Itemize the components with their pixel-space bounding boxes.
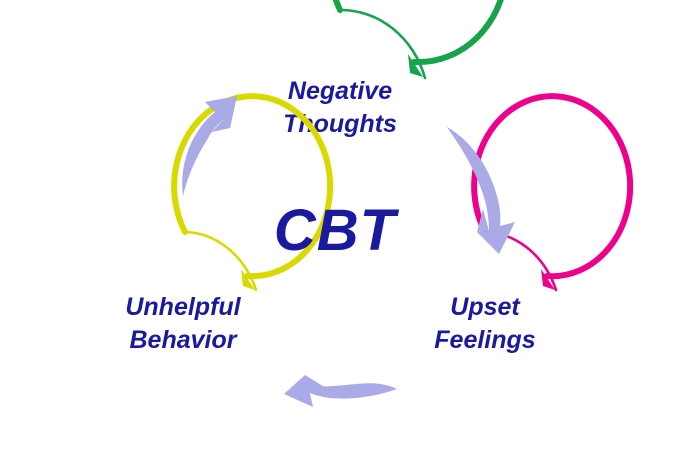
cbt-cycle-diagram: Negative Thoughts Upset Feelings Unhelpf… [0,0,680,450]
upset-feelings-label-line2: Feelings [434,326,536,354]
node-negative-thoughts[interactable]: Negative Thoughts [283,0,506,138]
negative-thoughts-ring [330,0,506,62]
center-label-cbt: CBT [274,198,400,263]
arrow-feelings-to-behavior [284,375,397,407]
upset-feelings-label-line1: Upset [450,293,521,321]
negative-thoughts-label-line1: Negative [288,77,392,105]
unhelpful-behavior-label-line1: Unhelpful [125,293,241,321]
arrow-feelings-to-behavior-shape [284,375,397,407]
diagram-canvas: Negative Thoughts Upset Feelings Unhelpf… [0,0,680,450]
node-upset-feelings[interactable]: Upset Feelings [434,96,630,354]
unhelpful-behavior-label-line2: Behavior [130,326,238,354]
